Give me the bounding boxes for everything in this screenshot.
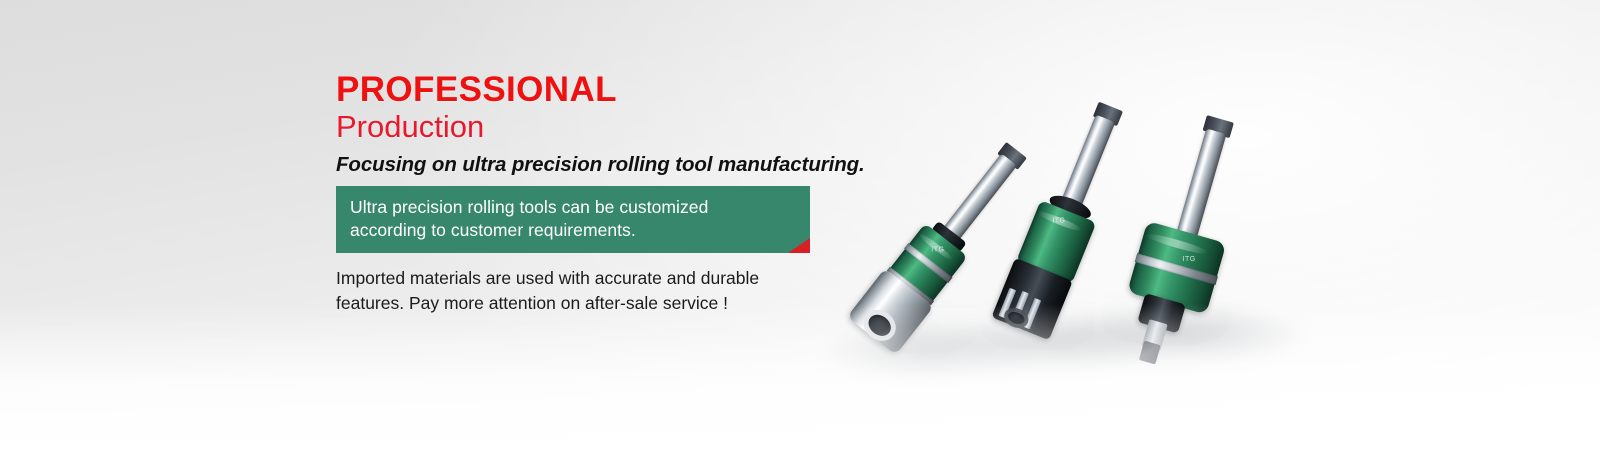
banner-copy: PROFESSIONAL Production Focusing on ultr… (336, 72, 856, 316)
highlight-line-2: according to customer requirements. (350, 219, 796, 242)
highlight-box: Ultra precision rolling tools can be cus… (336, 186, 810, 253)
floor-sheen (0, 304, 1600, 454)
corner-accent-triangle-icon (788, 238, 810, 253)
tool3-logo: ITG (1183, 256, 1196, 263)
headline-primary: PROFESSIONAL (336, 72, 856, 108)
tool3-square-tip (1139, 341, 1161, 365)
promo-banner: ITG ITG ITG (0, 0, 1600, 454)
tagline: Focusing on ultra precision rolling tool… (336, 153, 856, 177)
headline-secondary: Production (336, 109, 856, 146)
body-line-2: features. Pay more attention on after-sa… (336, 291, 836, 316)
product-image: ITG ITG ITG (830, 108, 1300, 454)
tool2-logo: ITG (1052, 217, 1065, 224)
body-copy: Imported materials are used with accurat… (336, 266, 836, 316)
highlight-line-1: Ultra precision rolling tools can be cus… (350, 196, 796, 219)
tool3-shank (1177, 128, 1227, 238)
body-line-1: Imported materials are used with accurat… (336, 266, 836, 291)
